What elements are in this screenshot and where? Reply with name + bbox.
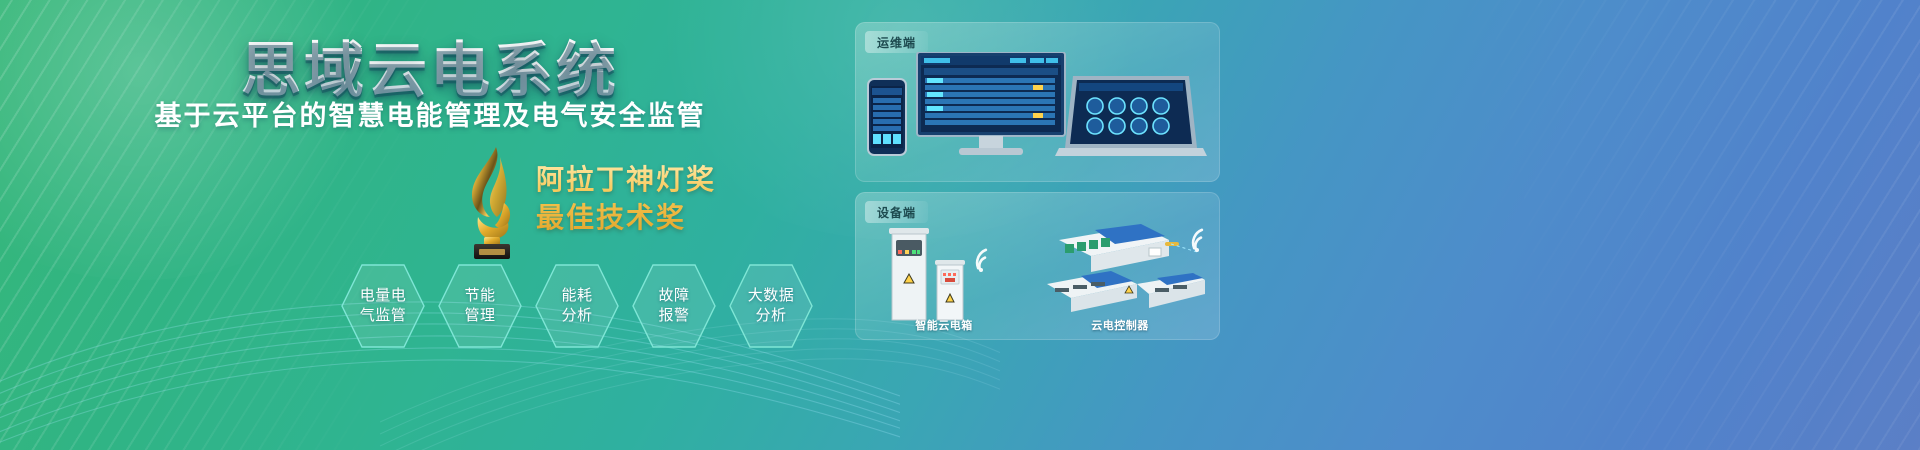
trophy-icon [452, 145, 532, 263]
feature-hex-4[interactable]: 故障 报警 [631, 262, 717, 350]
feature-hex-3-line1: 能耗 [561, 286, 592, 306]
mobile-phone-screen [867, 78, 907, 156]
smart-power-cabinet: . [883, 226, 1003, 322]
laptop-screen [1055, 74, 1207, 162]
diagonal-stripes-right [1300, 0, 1920, 450]
ops-terminal-card: 运维端 [855, 22, 1220, 182]
feature-hexagons: 电量电 气监管 节能 管理 能耗 分析 [340, 262, 840, 352]
feature-hex-2-line1: 节能 [464, 286, 495, 306]
device-terminal-badge: 设备端 [865, 201, 928, 223]
feature-hex-3-line2: 分析 [561, 306, 592, 326]
feature-hex-2[interactable]: 节能 管理 [437, 262, 523, 350]
feature-hex-3[interactable]: 能耗 分析 [534, 262, 620, 350]
promo-banner: 思域云电系统 基于云平台的智慧电能管理及电气安全监管 [0, 0, 1920, 450]
feature-hex-3-label: 能耗 分析 [561, 286, 592, 326]
cloud-power-controller [1045, 222, 1205, 322]
feature-hex-5-line2: 分析 [748, 306, 795, 326]
award-text: 阿拉丁神灯奖 最佳技术奖 [536, 161, 716, 237]
left-content: 思域云电系统 基于云平台的智慧电能管理及电气安全监管 [0, 0, 860, 450]
feature-hex-5-label: 大数据 分析 [748, 286, 795, 326]
feature-hex-1[interactable]: 电量电 气监管 [340, 262, 426, 350]
feature-hex-4-line1: 故障 [658, 286, 689, 306]
award-line-2: 最佳技术奖 [536, 199, 716, 237]
award-line-1: 阿拉丁神灯奖 [536, 161, 716, 199]
device-terminal-card: 设备端 . 智能云电箱 [855, 192, 1220, 340]
feature-hex-1-label: 电量电 气监管 [360, 286, 407, 326]
desktop-monitor-screen [915, 52, 1067, 156]
ops-terminal-badge: 运维端 [865, 31, 928, 53]
feature-hex-4-label: 故障 报警 [658, 286, 689, 326]
feature-hex-2-line2: 管理 [464, 306, 495, 326]
page-subtitle: 基于云平台的智慧电能管理及电气安全监管 [0, 94, 860, 133]
feature-hex-5[interactable]: 大数据 分析 [728, 262, 814, 350]
feature-hex-4-line2: 报警 [658, 306, 689, 326]
feature-hex-5-line1: 大数据 [748, 286, 795, 306]
feature-hex-1-line2: 气监管 [360, 306, 407, 326]
device-caption-cabinet: 智能云电箱 [869, 317, 1019, 333]
device-caption-controller: 云电控制器 [1045, 317, 1195, 333]
feature-hex-1-line1: 电量电 [360, 286, 407, 306]
award-section: 阿拉丁神灯奖 最佳技术奖 [0, 145, 860, 265]
feature-hex-2-label: 节能 管理 [464, 286, 495, 326]
